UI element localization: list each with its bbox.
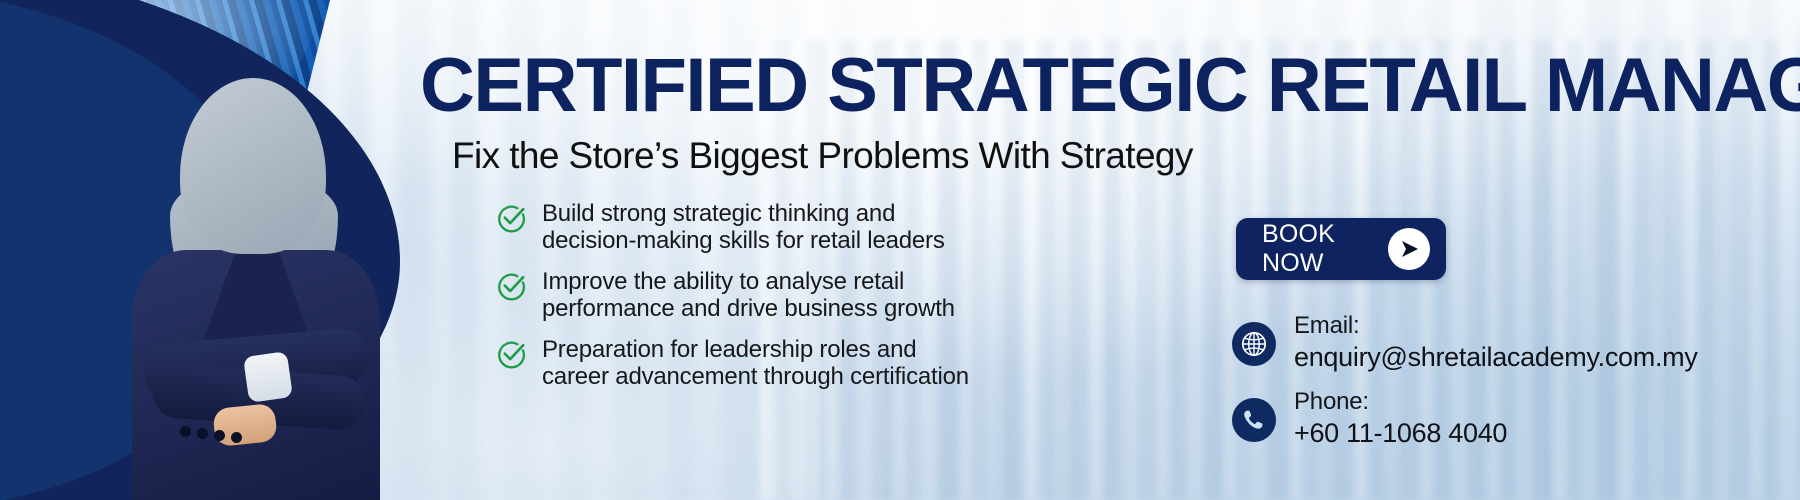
check-circle-icon	[496, 203, 526, 238]
contact-phone-text: Phone: +60 11-1068 4040	[1294, 388, 1507, 452]
contact-email-label: Email:	[1294, 312, 1359, 339]
book-now-button[interactable]: BOOK NOW	[1236, 218, 1446, 280]
contact-phone-value: +60 11-1068 4040	[1294, 418, 1507, 448]
list-item-label: Improve the ability to analyse retail pe…	[542, 268, 955, 322]
contact-phone-row[interactable]: Phone: +60 11-1068 4040	[1232, 388, 1698, 452]
page-title: CERTIFIED STRATEGIC RETAIL MANAGER	[420, 48, 1740, 124]
contact-block: Email: enquiry@shretailacademy.com.my Ph…	[1232, 312, 1698, 464]
contact-email-row[interactable]: Email: enquiry@shretailacademy.com.my	[1232, 312, 1698, 376]
list-item: Preparation for leadership roles and car…	[496, 336, 1056, 390]
banner-content: CERTIFIED STRATEGIC RETAIL MANAGER Fix t…	[0, 0, 1800, 500]
phone-icon	[1232, 398, 1276, 442]
check-circle-icon	[496, 339, 526, 374]
book-now-label: BOOK NOW	[1262, 220, 1388, 278]
list-item: Build strong strategic thinking and deci…	[496, 200, 1056, 254]
list-item: Improve the ability to analyse retail pe…	[496, 268, 1056, 322]
contact-phone-label: Phone:	[1294, 388, 1369, 415]
contact-email-value: enquiry@shretailacademy.com.my	[1294, 342, 1698, 372]
list-item-label: Build strong strategic thinking and deci…	[542, 200, 945, 254]
benefits-list: Build strong strategic thinking and deci…	[496, 200, 1056, 404]
promotional-banner: CERTIFIED STRATEGIC RETAIL MANAGER Fix t…	[0, 0, 1800, 500]
contact-email-text: Email: enquiry@shretailacademy.com.my	[1294, 312, 1698, 376]
list-item-label: Preparation for leadership roles and car…	[542, 336, 969, 390]
check-circle-icon	[496, 271, 526, 306]
globe-icon	[1232, 322, 1276, 366]
page-subtitle: Fix the Store’s Biggest Problems With St…	[452, 136, 1193, 176]
play-arrow-icon	[1388, 228, 1430, 270]
